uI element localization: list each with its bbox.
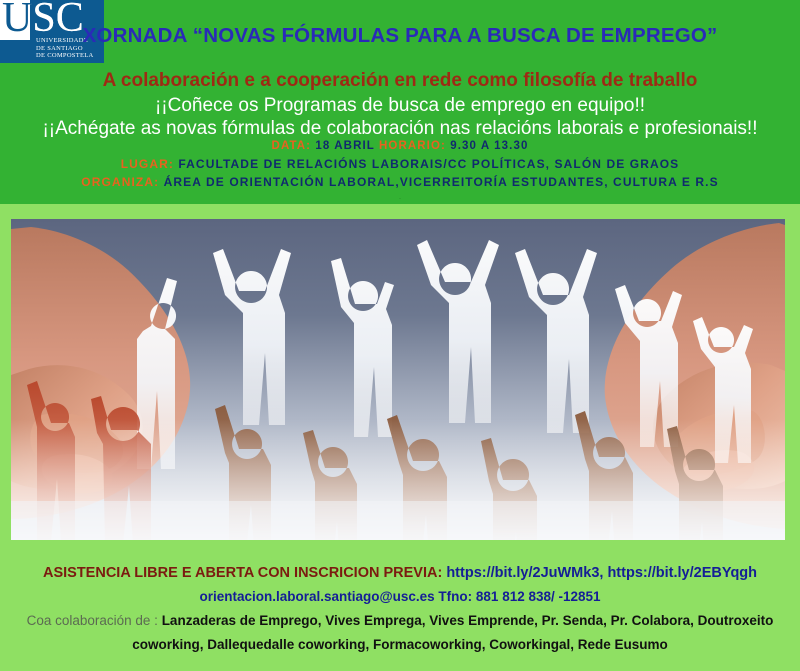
usc-logo-subtitle-line-3: DE COMPOSTELA xyxy=(36,52,102,60)
time-label: HORARIO: xyxy=(379,140,446,152)
collaborators-names-1: Lanzaderas de Emprego, Vives Emprega, Vi… xyxy=(162,613,774,628)
decorative-dot: . xyxy=(0,191,800,201)
contact-line[interactable]: orientacion.laboral.santiago@usc.es Tfno… xyxy=(0,589,800,604)
date-value: 18 ABRIL xyxy=(315,140,374,152)
poster-tagline-2: ¡¡Achégate as novas fórmulas de colabora… xyxy=(0,118,800,140)
collaboration-photo xyxy=(11,219,785,540)
attendance-line: ASISTENCIA LIBRE E ABERTA CON INSCRICION… xyxy=(0,565,800,581)
collaboration-photo-graphic xyxy=(11,219,785,540)
attendance-label: ASISTENCIA LIBRE E ABERTA CON INSCRICION… xyxy=(43,565,442,581)
organizer-label: ORGANIZA: xyxy=(81,175,159,189)
place-value: FACULTADE DE RELACIÓNS LABORAIS/CC POLÍT… xyxy=(178,157,679,171)
collaborators-label: Coa colaboración de : xyxy=(27,613,158,628)
event-organizer-line: ORGANIZA: ÁREA DE ORIENTACIÓN LABORAL,VI… xyxy=(0,175,800,189)
poster-title: XORNADA “NOVAS FÓRMULAS PARA A BUSCA DE … xyxy=(0,24,800,48)
registration-links[interactable]: https://bit.ly/2JuWMk3, https://bit.ly/2… xyxy=(446,565,757,581)
place-label: LUGAR: xyxy=(121,157,174,171)
collaborators-line-1: Coa colaboración de : Lanzaderas de Empr… xyxy=(0,613,800,628)
poster-subtitle: A colaboración e a cooperación en rede c… xyxy=(0,70,800,92)
event-place-line: LUGAR: FACULTADE DE RELACIÓNS LABORAIS/C… xyxy=(0,157,800,171)
event-date-line: DATA: 18 ABRIL HORARIO: 9.30 A 13.30 xyxy=(0,140,800,152)
organizer-value: ÁREA DE ORIENTACIÓN LABORAL,VICERREITORÍ… xyxy=(164,175,719,189)
poster-root: USC UNIVERSIDADE DE SANTIAGO DE COMPOSTE… xyxy=(0,0,800,671)
collaborators-line-2: coworking, Dallequedalle coworking, Form… xyxy=(0,637,800,652)
date-label: DATA: xyxy=(272,140,312,152)
time-value: 9.30 A 13.30 xyxy=(450,140,528,152)
poster-tagline-1: ¡¡Coñece os Programas de busca de empreg… xyxy=(0,95,800,117)
